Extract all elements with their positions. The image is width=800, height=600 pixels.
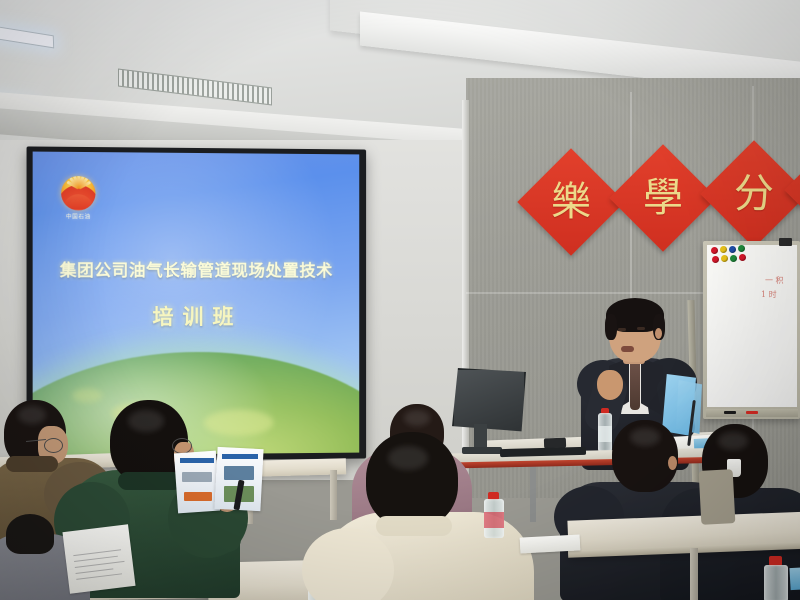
magnet-green-1[interactable] [738,245,745,252]
logo-dome [63,194,93,209]
attendee-green-hair-highlight [128,410,164,432]
attendee-cream-collar [376,516,452,536]
whiteboard-writing-line-1: 一 积 [765,275,784,286]
brochure-photo-1 [224,466,254,480]
chair-back-right [699,469,736,525]
bottle-body [764,565,788,600]
magnet-yellow-1[interactable] [720,246,727,253]
attendee-cream-jacket [316,432,546,600]
attendee-center-hair-highlight [630,428,660,446]
papers-front-right [520,534,581,553]
presenter-tie [630,362,640,410]
wall-banner-3: 分 [700,140,800,247]
presenter-eye-left [618,328,626,331]
wall-banner-2: 學 [609,144,716,251]
blue-folder-front-right [789,564,800,590]
desk-front-right-leg [690,548,698,600]
presenter-hand-gesture [597,370,623,400]
paper-text-line [76,568,114,574]
marker-red[interactable] [746,411,758,414]
whiteboard-writing-line-2: 1 时 [761,289,777,300]
brochure-accent-orange [184,492,212,501]
attendee-brown-collar [6,456,58,472]
attendee-right-hair-highlight [718,432,748,450]
attendee-mauve-hair-highlight [404,410,430,426]
presenter-mouth [621,346,634,352]
petrochina-logo: 中国石油 [57,176,100,221]
paper-text-line [76,573,122,580]
paper-text-line [74,556,118,562]
magnet-green-2[interactable] [730,255,737,262]
magnet-red-1[interactable] [711,247,718,254]
marker-black[interactable] [724,411,736,414]
water-bottle-front-center[interactable] [484,492,504,538]
magnet-blue-1[interactable] [729,246,736,253]
magnet-yellow-2[interactable] [721,255,728,262]
petrochina-logo-caption: 中国石油 [57,212,100,220]
attendee-cream-hair-highlight [388,446,428,470]
magnet-red-3[interactable] [739,254,746,261]
paper-text-line [75,561,125,568]
papers-front-left [62,524,135,594]
wall-banner-1: 樂 [517,148,624,255]
slide-title: 集团公司油气长输管道现场处置技术 [33,257,360,282]
wall-banner-3-char: 分 [716,156,792,232]
wall-banner-1-char: 樂 [533,164,609,240]
presenter-hair-side-left [605,314,617,340]
magnet-red-2[interactable] [712,256,719,263]
presenter-ear [655,328,662,339]
eyeglasses-lens [44,438,63,453]
petrochina-sun-icon [61,176,95,210]
whiteboard-clip[interactable] [779,238,792,246]
wall-banner-2-char: 學 [625,160,701,236]
brochure-open [176,448,262,514]
training-room-photo: 中国石油 集团公司油气长输管道现场处置技术 培训班 樂 學 分 享 一 积 1 … [0,0,800,600]
attendee-brown-hair-highlight [18,406,46,424]
attendee-green-collar [118,472,182,490]
brochure-photo-2 [182,472,212,482]
brochure-header-bar-right [222,454,258,459]
bottle-label [484,512,504,528]
attendee-gray-head [6,514,54,554]
presenter-eye-right [637,327,645,330]
brochure-header-bar-left [180,458,214,463]
water-bottle-front-right[interactable] [764,556,788,600]
slide-subtitle: 培训班 [33,301,360,331]
